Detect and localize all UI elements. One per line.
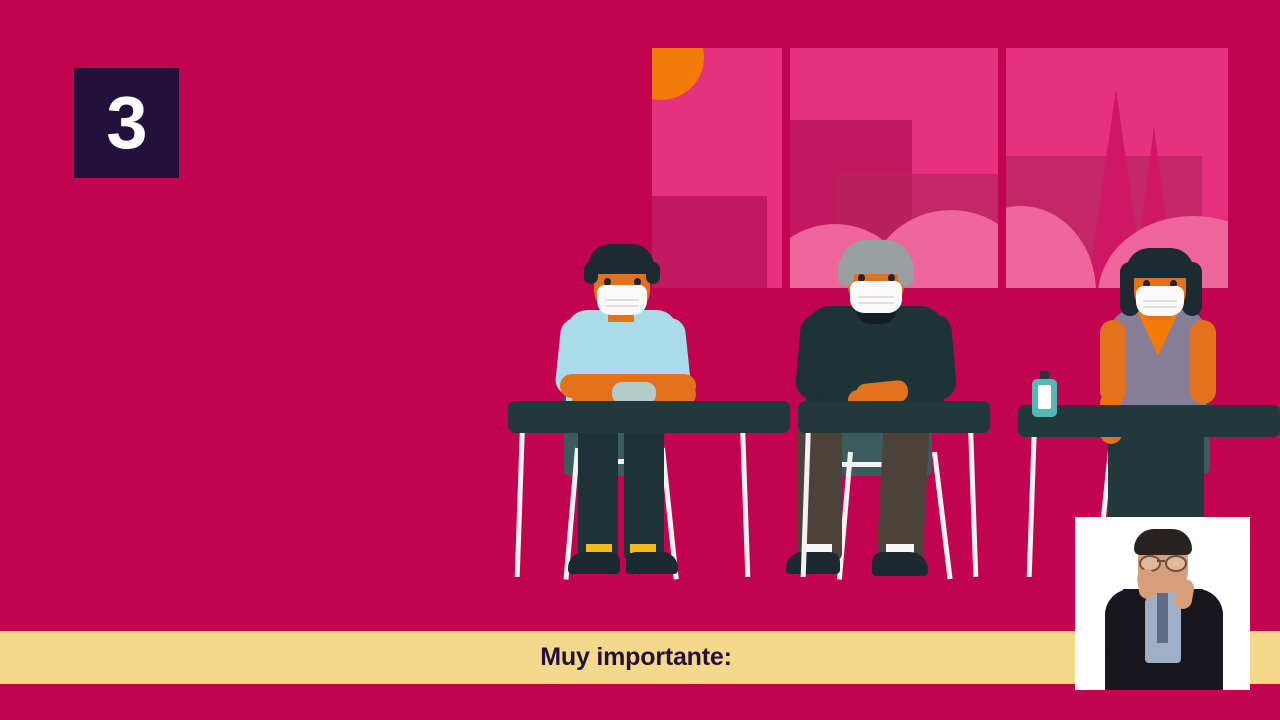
shoe-right <box>872 552 928 576</box>
window-pane-1 <box>652 48 782 288</box>
video-frame: 3 <box>0 0 1280 720</box>
face-mask <box>597 285 647 315</box>
shoe-left <box>786 552 840 574</box>
shoe-left <box>568 552 620 574</box>
interpreter-tie <box>1157 593 1168 643</box>
sleeve-right <box>914 313 957 402</box>
desk-leg <box>1027 425 1037 577</box>
chair-leg <box>932 452 953 580</box>
caption-text: Muy importante: <box>540 643 731 672</box>
leg-left <box>578 430 618 560</box>
sign-language-interpreter-inset[interactable] <box>1075 517 1250 690</box>
mask-fold <box>605 299 639 301</box>
face-mask <box>850 281 902 313</box>
desk-leg <box>515 425 525 577</box>
arm-right <box>1190 320 1216 404</box>
sanitizer-label <box>1038 385 1051 409</box>
face-mask <box>1136 286 1184 316</box>
leg-right <box>624 430 664 560</box>
interpreter-hair <box>1134 529 1192 555</box>
glasses-bridge-icon <box>1157 560 1165 562</box>
window-pane-3 <box>1006 48 1228 288</box>
desk-left <box>508 401 790 433</box>
building-block <box>652 196 767 288</box>
leg-right <box>877 427 930 561</box>
mask-fold <box>1143 306 1177 308</box>
mask-fold <box>858 302 894 304</box>
mask-fold <box>605 305 639 307</box>
desk-right <box>1018 405 1280 437</box>
sun-icon <box>652 48 704 100</box>
step-number-text: 3 <box>106 86 146 160</box>
hair <box>840 240 912 274</box>
hair <box>588 244 654 274</box>
mask-fold <box>1143 300 1177 302</box>
desk-leg <box>740 425 750 577</box>
shoe-right <box>626 552 678 574</box>
desk-leg <box>968 425 978 577</box>
hair <box>1126 248 1194 278</box>
step-number-badge: 3 <box>74 68 179 178</box>
glasses-lens-right-icon <box>1165 555 1187 572</box>
mask-fold <box>858 296 894 298</box>
desk-middle <box>798 401 990 433</box>
